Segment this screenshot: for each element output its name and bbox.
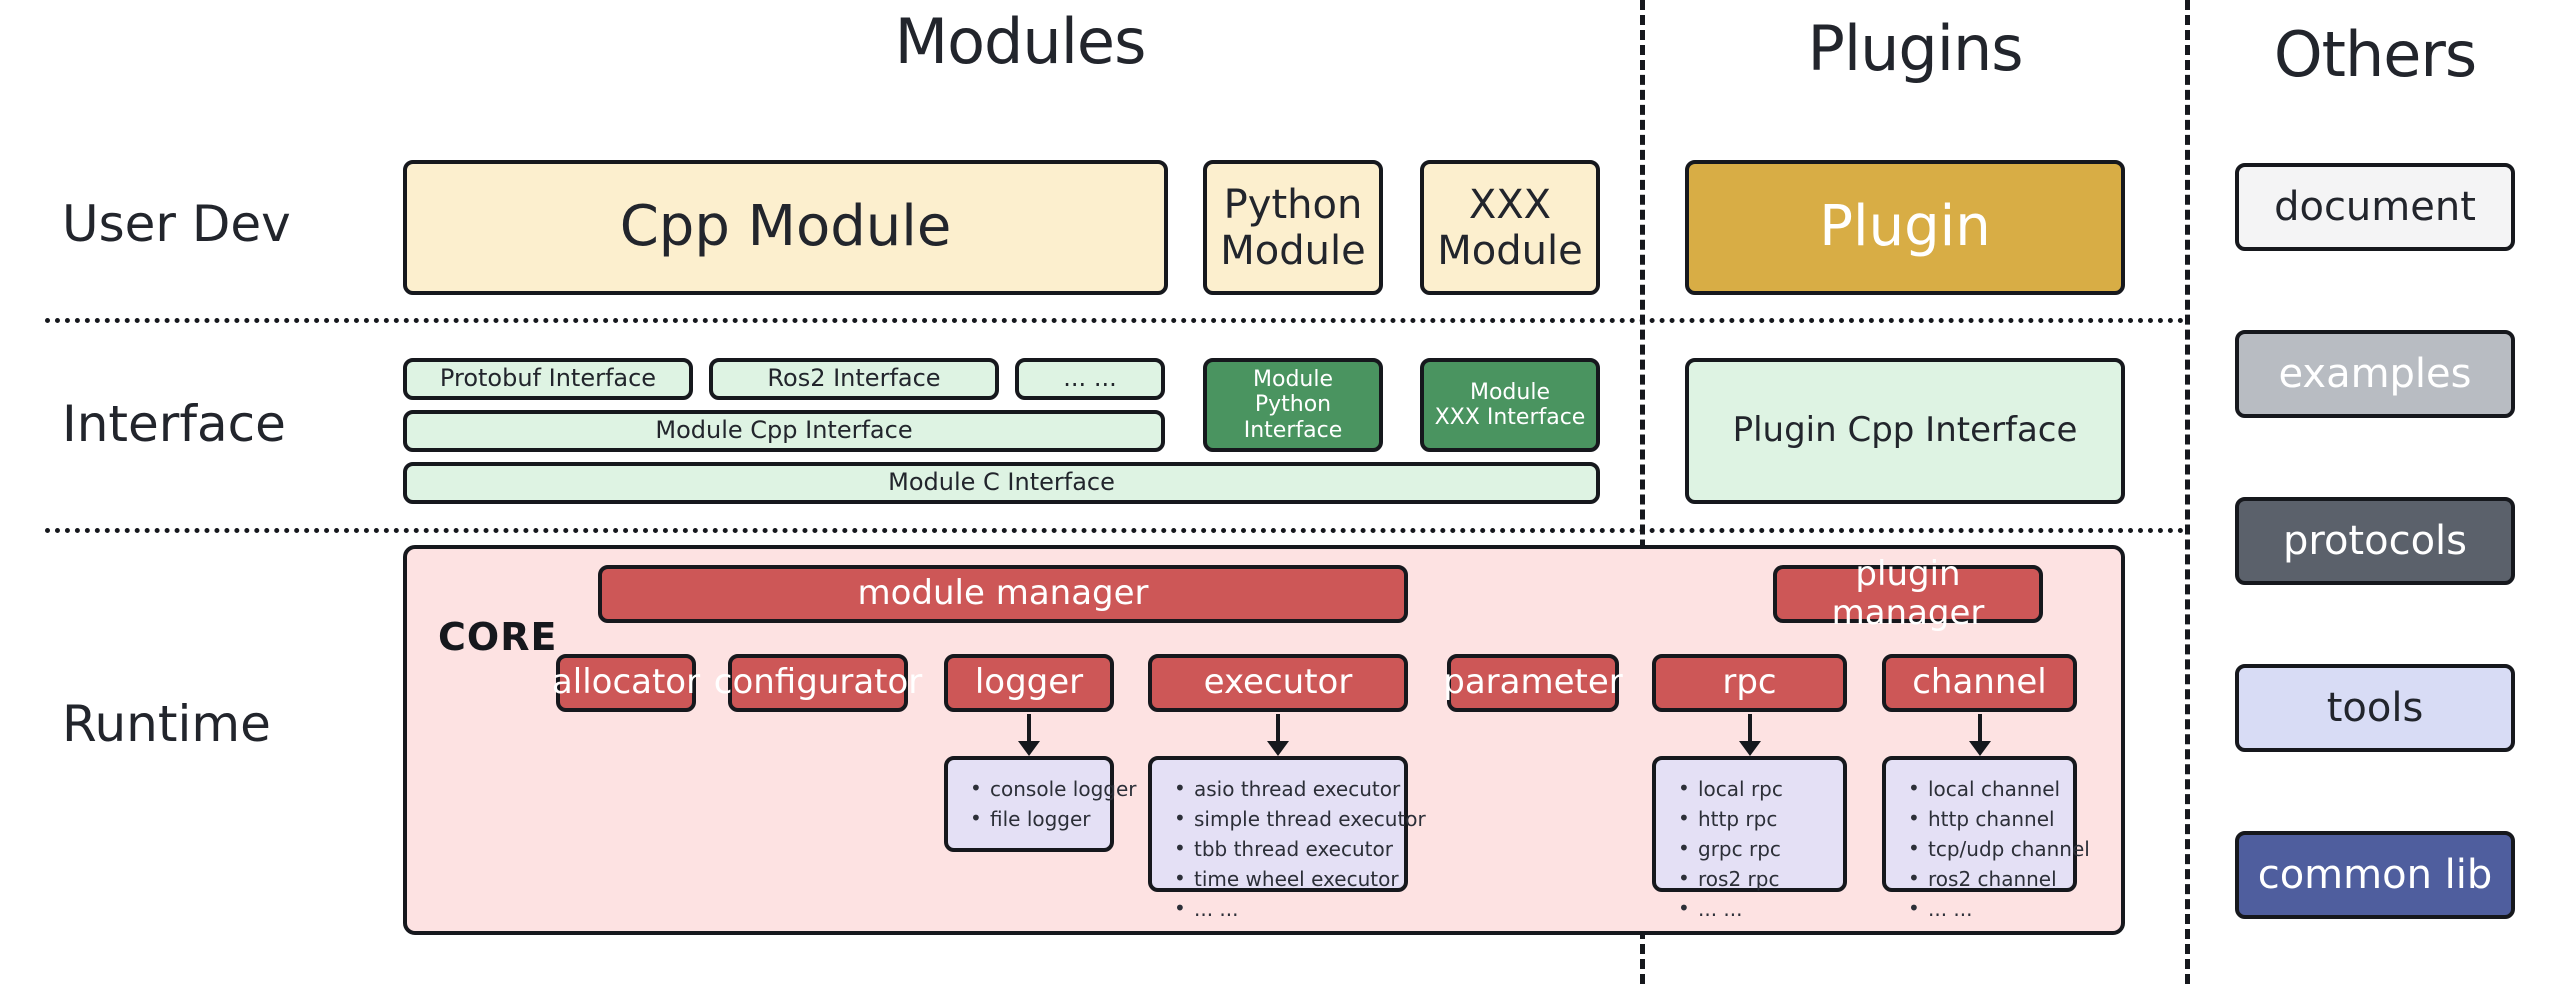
plugin-cpp-interface-box[interactable]: Plugin Cpp Interface — [1685, 358, 2125, 504]
list-item: local rpc — [1698, 774, 1831, 804]
list-item: http channel — [1928, 804, 2061, 834]
parameter-box[interactable]: parameter — [1447, 654, 1619, 712]
document-box[interactable]: document — [2235, 163, 2515, 251]
plugin-box[interactable]: Plugin — [1685, 160, 2125, 295]
list-item: ros2 channel — [1928, 864, 2061, 894]
python-module-box[interactable]: Python Module — [1203, 160, 1383, 295]
ros2-interface-box[interactable]: Ros2 Interface — [709, 358, 999, 400]
module-manager-box[interactable]: module manager — [598, 565, 1408, 623]
xxx-module-box[interactable]: XXX Module — [1420, 160, 1600, 295]
module-cpp-interface-box[interactable]: Module Cpp Interface — [403, 410, 1165, 452]
column-title-plugins: Plugins — [1650, 12, 2180, 85]
list-item: ... ... — [1928, 894, 2061, 924]
list-item: asio thread executor — [1194, 774, 1392, 804]
executor-detail-box: asio thread executor simple thread execu… — [1148, 756, 1408, 892]
channel-detail-box: local channel http channel tcp/udp chann… — [1882, 756, 2077, 892]
list-item: local channel — [1928, 774, 2061, 804]
protocols-box[interactable]: protocols — [2235, 497, 2515, 585]
channel-detail-list: local channel http channel tcp/udp chann… — [1902, 774, 2061, 924]
module-c-interface-box[interactable]: Module C Interface — [403, 462, 1600, 504]
divider-user-dev-interface — [45, 318, 2185, 323]
column-title-modules: Modules — [400, 5, 1640, 78]
rpc-detail-box: local rpc http rpc grpc rpc ros2 rpc ...… — [1652, 756, 1847, 892]
divider-interface-runtime — [45, 528, 2185, 533]
list-item: ros2 rpc — [1698, 864, 1831, 894]
executor-detail-list: asio thread executor simple thread execu… — [1168, 774, 1392, 924]
protobuf-interface-box[interactable]: Protobuf Interface — [403, 358, 693, 400]
examples-box[interactable]: examples — [2235, 330, 2515, 418]
list-item: file logger — [990, 804, 1098, 834]
executor-box[interactable]: executor — [1148, 654, 1408, 712]
list-item: simple thread executor — [1194, 804, 1392, 834]
configurator-box[interactable]: configurator — [728, 654, 908, 712]
list-item: http rpc — [1698, 804, 1831, 834]
etc-interface-box[interactable]: ... ... — [1015, 358, 1165, 400]
list-item: tcp/udp channel — [1928, 834, 2061, 864]
channel-arrow — [1965, 714, 1995, 756]
list-item: grpc rpc — [1698, 834, 1831, 864]
channel-box[interactable]: channel — [1882, 654, 2077, 712]
architecture-diagram: Modules Plugins Others User Dev Interfac… — [0, 0, 2560, 984]
allocator-box[interactable]: allocator — [556, 654, 696, 712]
list-item: ... ... — [1194, 894, 1392, 924]
list-item: time wheel executor — [1194, 864, 1392, 894]
tools-box[interactable]: tools — [2235, 664, 2515, 752]
row-label-user-dev: User Dev — [62, 195, 291, 253]
logger-detail-box: console logger file logger — [944, 756, 1114, 852]
core-label: CORE — [438, 615, 557, 659]
list-item: console logger — [990, 774, 1098, 804]
logger-detail-list: console logger file logger — [964, 774, 1098, 834]
list-item: ... ... — [1698, 894, 1831, 924]
row-label-runtime: Runtime — [62, 695, 271, 753]
logger-arrow — [1014, 714, 1044, 756]
row-label-interface: Interface — [62, 395, 286, 453]
module-python-interface-box[interactable]: Module Python Interface — [1203, 358, 1383, 452]
rpc-arrow — [1735, 714, 1765, 756]
rpc-detail-list: local rpc http rpc grpc rpc ros2 rpc ...… — [1672, 774, 1831, 924]
column-title-others: Others — [2200, 18, 2550, 91]
common-lib-box[interactable]: common lib — [2235, 831, 2515, 919]
logger-box[interactable]: logger — [944, 654, 1114, 712]
plugin-manager-box[interactable]: plugin manager — [1773, 565, 2043, 623]
executor-arrow — [1263, 714, 1293, 756]
divider-plugins-others — [2185, 0, 2190, 984]
cpp-module-box[interactable]: Cpp Module — [403, 160, 1168, 295]
module-xxx-interface-box[interactable]: Module XXX Interface — [1420, 358, 1600, 452]
rpc-box[interactable]: rpc — [1652, 654, 1847, 712]
list-item: tbb thread executor — [1194, 834, 1392, 864]
